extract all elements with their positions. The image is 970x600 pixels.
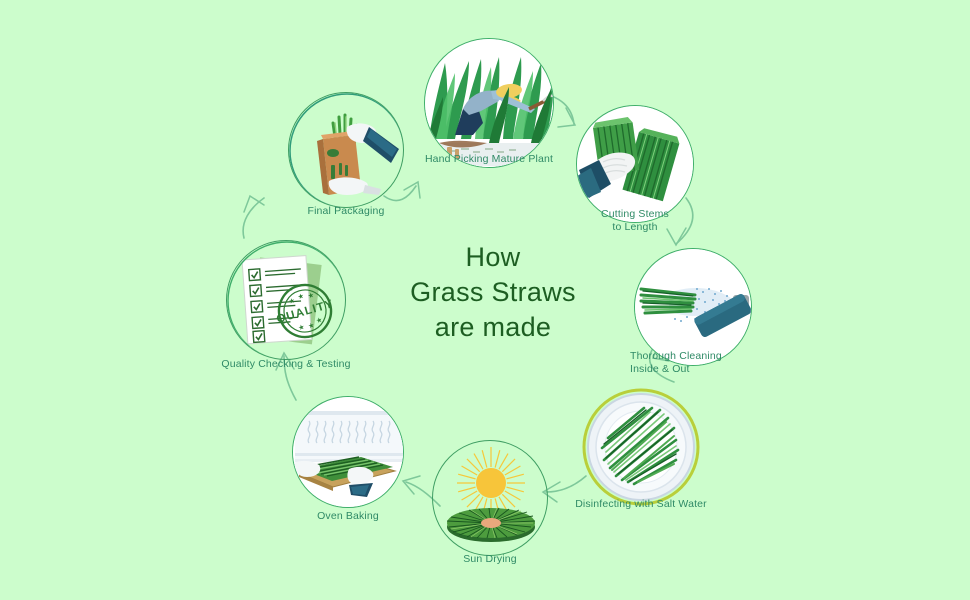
step-label-quality-checking: Quality Checking & Testing — [206, 358, 366, 371]
step-label-disinfecting: Disinfecting with Salt Water — [557, 498, 725, 511]
hands-cutting-stems-icon — [576, 105, 694, 223]
oven-tray-heat-icon — [292, 396, 404, 508]
step-label-cutting-stems: Cutting Stems to Length — [576, 208, 694, 234]
sun-drying-rack-icon — [432, 440, 548, 556]
step-label-sun-drying: Sun Drying — [432, 553, 548, 566]
bowl-of-straws-icon — [582, 388, 700, 506]
title-line-3: are made — [373, 310, 613, 345]
step-label-hand-picking: Hand Picking Mature Plant — [404, 153, 574, 166]
quality-checklist-stamp-icon: QUALITY ★ ★ ★ ★ ★ ★ — [226, 240, 346, 360]
title-line-1: How — [373, 240, 613, 275]
step-label-thorough-cleaning: Thorough Cleaning Inside & Out — [630, 350, 780, 376]
svg-text:★: ★ — [315, 316, 323, 325]
infographic-canvas: How Grass Straws are made — [0, 0, 970, 600]
infographic-title: How Grass Straws are made — [373, 240, 613, 345]
title-line-2: Grass Straws — [373, 275, 613, 310]
step-label-oven-baking: Oven Baking — [292, 510, 404, 523]
package-box-icon — [288, 92, 404, 208]
step-label-final-packaging: Final Packaging — [268, 205, 424, 218]
water-spray-cleaning-icon — [634, 248, 752, 366]
farmer-harvesting-grass-icon — [424, 38, 554, 168]
